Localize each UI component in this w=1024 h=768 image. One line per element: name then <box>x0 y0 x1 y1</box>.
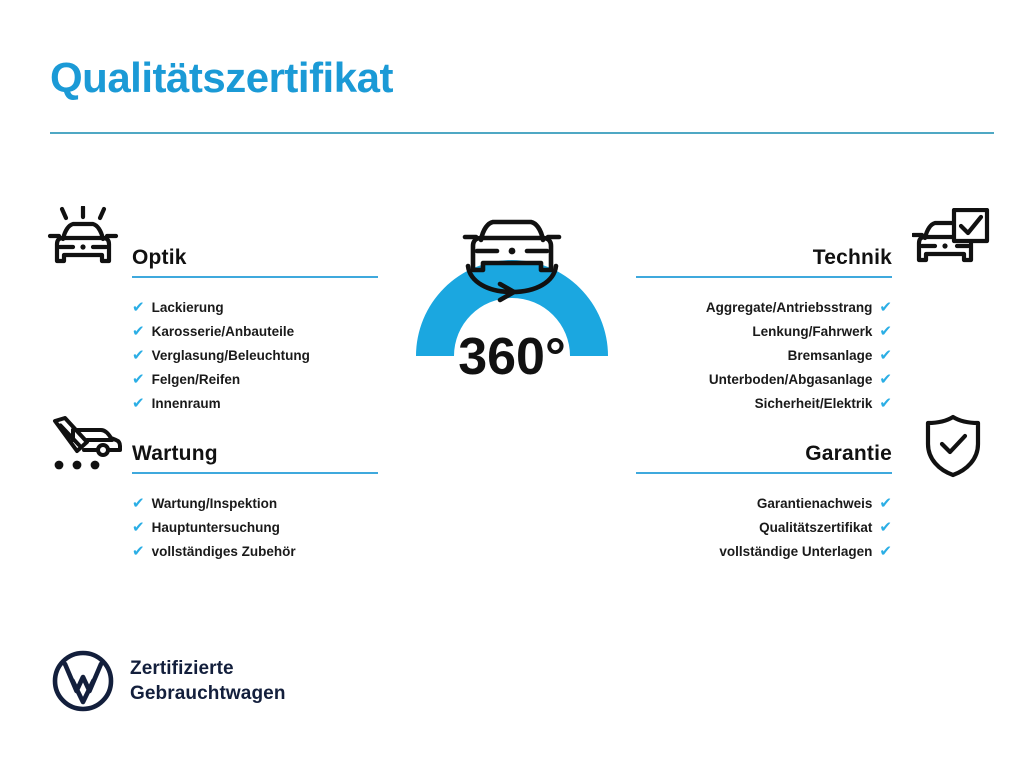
list-item: ✔ Felgen/Reifen <box>132 368 378 392</box>
section-title-wartung: Wartung <box>132 442 218 466</box>
list-item-label: Unterboden/Abgasanlage <box>709 368 873 392</box>
check-icon: ✔ <box>879 496 892 511</box>
section-technik: Technik Aggregate/Antriebsstrang ✔ Lenku… <box>636 236 892 416</box>
section-title-technik: Technik <box>813 246 892 270</box>
list-item: Garantienachweis ✔ <box>636 492 892 516</box>
logo-text: Zertifizierte Gebrauchtwagen <box>130 656 286 706</box>
list-item-label: Felgen/Reifen <box>152 368 241 392</box>
car-shine-icon <box>46 206 120 277</box>
check-icon: ✔ <box>132 544 145 559</box>
check-icon: ✔ <box>879 544 892 559</box>
list-item-label: vollständiges Zubehör <box>152 540 296 564</box>
list-item: ✔ Hauptuntersuchung <box>132 516 378 540</box>
page-title: Qualitätszertifikat <box>50 54 393 102</box>
list-item-label: Verglasung/Beleuchtung <box>152 344 310 368</box>
section-optik: Optik ✔ Lackierung ✔ Karosserie/Anbautei… <box>132 236 378 416</box>
section-wartung: Wartung ✔ Wartung/Inspektion ✔ Hauptunte… <box>132 432 378 564</box>
list-item-label: Hauptuntersuchung <box>152 516 280 540</box>
title-divider <box>50 132 994 134</box>
checklist-optik: ✔ Lackierung ✔ Karosserie/Anbauteile ✔ V… <box>132 296 378 416</box>
section-garantie: Garantie Garantienachweis ✔ Qualitätszer… <box>636 432 892 564</box>
checklist-garantie: Garantienachweis ✔ Qualitätszertifikat ✔… <box>636 492 892 564</box>
list-item-label: Garantienachweis <box>757 492 873 516</box>
check-icon: ✔ <box>132 324 145 339</box>
section-divider-technik <box>636 276 892 278</box>
list-item: Qualitätszertifikat ✔ <box>636 516 892 540</box>
section-divider-wartung <box>132 472 378 474</box>
list-item-label: Qualitätszertifikat <box>759 516 872 540</box>
check-icon: ✔ <box>132 300 145 315</box>
logo-text-line2: Gebrauchtwagen <box>130 681 286 706</box>
list-item: Aggregate/Antriebsstrang ✔ <box>636 296 892 320</box>
check-icon: ✔ <box>132 348 145 363</box>
list-item: Unterboden/Abgasanlage ✔ <box>636 368 892 392</box>
list-item-label: Wartung/Inspektion <box>152 492 278 516</box>
check-icon: ✔ <box>132 496 145 511</box>
list-item-label: Karosserie/Anbauteile <box>152 320 295 344</box>
list-item: ✔ Wartung/Inspektion <box>132 492 378 516</box>
list-item-label: Aggregate/Antriebsstrang <box>706 296 873 320</box>
badge-center-text: 360° <box>458 328 566 386</box>
list-item: ✔ Lackierung <box>132 296 378 320</box>
check-icon: ✔ <box>879 372 892 387</box>
shield-check-icon <box>924 414 982 483</box>
check-icon: ✔ <box>132 396 145 411</box>
list-item-label: Sicherheit/Elektrik <box>755 392 873 416</box>
checklist-technik: Aggregate/Antriebsstrang ✔ Lenkung/Fahrw… <box>636 296 892 416</box>
list-item: vollständige Unterlagen ✔ <box>636 540 892 564</box>
check-icon: ✔ <box>132 520 145 535</box>
pen-car-service-icon <box>46 416 122 477</box>
car-checkbox-icon <box>912 208 990 277</box>
check-icon: ✔ <box>879 324 892 339</box>
vw-certified-logo: Zertifizierte Gebrauchtwagen <box>52 650 286 712</box>
list-item-label: Bremsanlage <box>788 344 873 368</box>
section-divider-optik <box>132 276 378 278</box>
check-icon: ✔ <box>879 520 892 535</box>
check-icon: ✔ <box>132 372 145 387</box>
list-item-label: Lenkung/Fahrwerk <box>752 320 872 344</box>
section-title-optik: Optik <box>132 246 187 270</box>
check-icon: ✔ <box>879 348 892 363</box>
checklist-wartung: ✔ Wartung/Inspektion ✔ Hauptuntersuchung… <box>132 492 378 564</box>
section-title-garantie: Garantie <box>805 442 892 466</box>
check-icon: ✔ <box>879 396 892 411</box>
list-item: ✔ Karosserie/Anbauteile <box>132 320 378 344</box>
list-item: ✔ vollständiges Zubehör <box>132 540 378 564</box>
vw-roundel-icon <box>52 650 114 712</box>
badge-360-gebrauchtwagen-check: 360° Gebrauchtwagen-Check <box>372 196 652 496</box>
logo-text-line1: Zertifizierte <box>130 656 286 681</box>
list-item: Lenkung/Fahrwerk ✔ <box>636 320 892 344</box>
list-item-label: vollständige Unterlagen <box>719 540 872 564</box>
list-item: ✔ Verglasung/Beleuchtung <box>132 344 378 368</box>
section-divider-garantie <box>636 472 892 474</box>
list-item: Sicherheit/Elektrik ✔ <box>636 392 892 416</box>
list-item: Bremsanlage ✔ <box>636 344 892 368</box>
list-item-label: Lackierung <box>152 296 224 320</box>
list-item-label: Innenraum <box>152 392 221 416</box>
list-item: ✔ Innenraum <box>132 392 378 416</box>
certificate-page: Qualitätszertifikat Optik <box>0 0 1024 768</box>
check-icon: ✔ <box>879 300 892 315</box>
